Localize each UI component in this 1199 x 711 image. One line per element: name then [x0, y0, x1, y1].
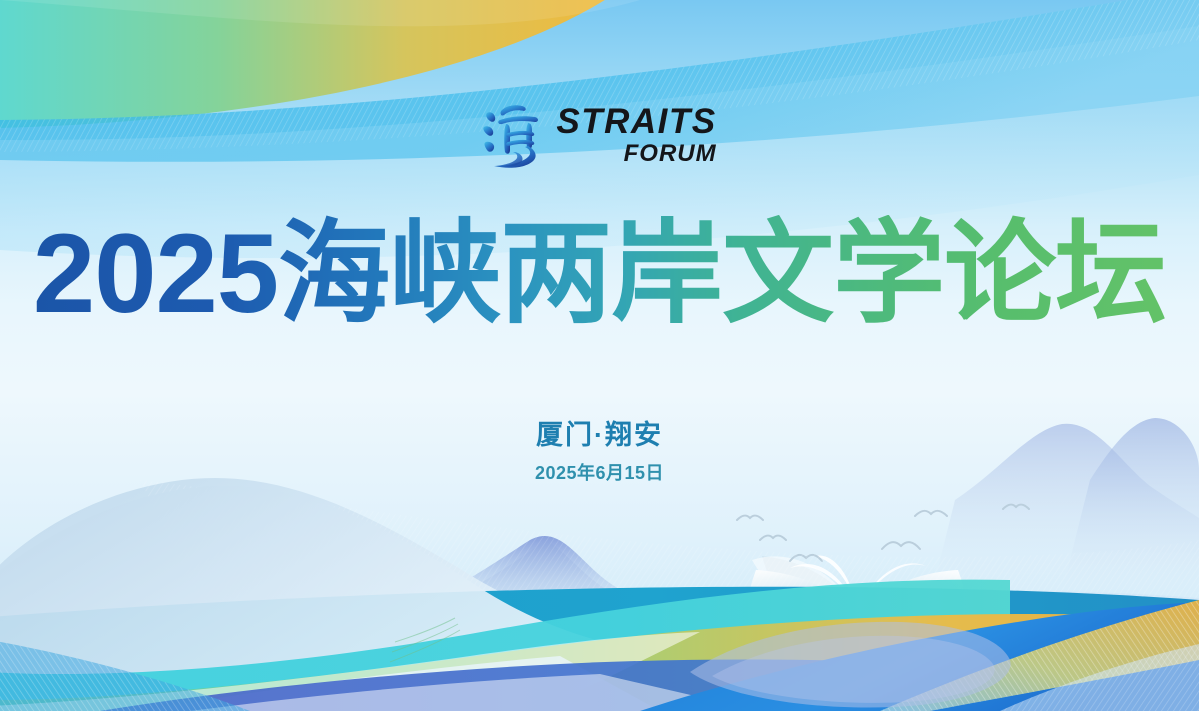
event-date: 2025年6月15日 — [0, 462, 1199, 485]
event-location: 厦门·翔安 — [0, 418, 1199, 453]
main-title-text: 2025海峡两岸文学论坛 — [33, 215, 1166, 334]
logo-wordmark: STRAITS FORUM — [556, 104, 716, 166]
page-title: 2025海峡两岸文学论坛 — [0, 215, 1199, 334]
hai-calligraphy-icon — [482, 100, 546, 170]
logo-forum-text: FORUM — [624, 142, 717, 166]
logo-straits-text: STRAITS — [556, 104, 716, 139]
straits-forum-logo: STRAITS FORUM — [0, 100, 1199, 170]
poster-canvas: STRAITS FORUM 2025海峡两岸文学论坛 厦门·翔安 2025年6月… — [0, 0, 1199, 711]
event-details: 厦门·翔安 2025年6月15日 — [0, 418, 1199, 485]
